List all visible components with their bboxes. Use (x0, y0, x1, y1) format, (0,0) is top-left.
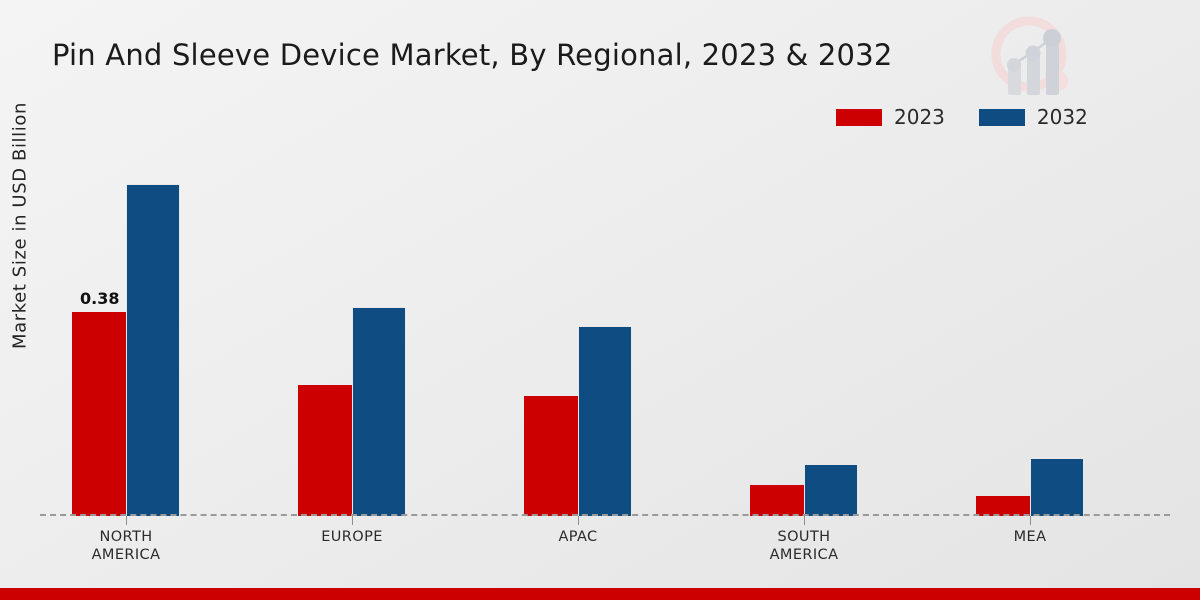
bar-group (750, 130, 858, 516)
bar-2023-5[interactable] (976, 496, 1030, 516)
legend-swatch-2032 (979, 109, 1025, 126)
legend-label-2032: 2032 (1037, 105, 1088, 129)
y-axis-title: Market Size in USD Billion (10, 56, 31, 396)
watermark-logo-icon (982, 8, 1092, 112)
bar-2032-4[interactable] (804, 464, 858, 516)
x-axis-tick (1030, 516, 1031, 525)
bar-2032-5[interactable] (1030, 458, 1084, 516)
x-axis-label: EUROPE (321, 528, 383, 546)
x-axis-tick (804, 516, 805, 525)
bar-2023-4[interactable] (750, 485, 804, 516)
footer-accent-strip (0, 588, 1200, 600)
x-axis-label: NORTH AMERICA (92, 528, 161, 564)
bar-value-label: 0.38 (80, 289, 119, 308)
bar-group (524, 130, 632, 516)
bar-2023-2[interactable] (298, 385, 352, 516)
x-axis-label: APAC (558, 528, 597, 546)
x-axis-label: MEA (1014, 528, 1047, 546)
x-axis-label: SOUTH AMERICA (770, 528, 839, 564)
bar-group (298, 130, 406, 516)
chart-title: Pin And Sleeve Device Market, By Regiona… (52, 38, 893, 72)
x-axis-tick (578, 516, 579, 525)
x-axis-baseline (40, 514, 1170, 516)
legend-item-2023[interactable]: 2023 (836, 105, 945, 129)
bar-2023-3[interactable] (524, 396, 578, 516)
bar-2032-2[interactable] (352, 307, 406, 516)
bar-group: 0.38 (72, 130, 180, 516)
chart-legend: 2023 2032 (836, 105, 1088, 129)
bar-2032-3[interactable] (578, 326, 632, 516)
chart-figure: Pin And Sleeve Device Market, By Regiona… (0, 0, 1200, 600)
bar-2023-1[interactable] (72, 312, 126, 516)
legend-label-2023: 2023 (894, 105, 945, 129)
x-axis-tick (352, 516, 353, 525)
bar-group (976, 130, 1084, 516)
legend-swatch-2023 (836, 109, 882, 126)
x-axis-tick (126, 516, 127, 525)
legend-item-2032[interactable]: 2032 (979, 105, 1088, 129)
plot-area: 0.38 (40, 130, 1170, 516)
bar-2032-1[interactable] (126, 184, 180, 516)
